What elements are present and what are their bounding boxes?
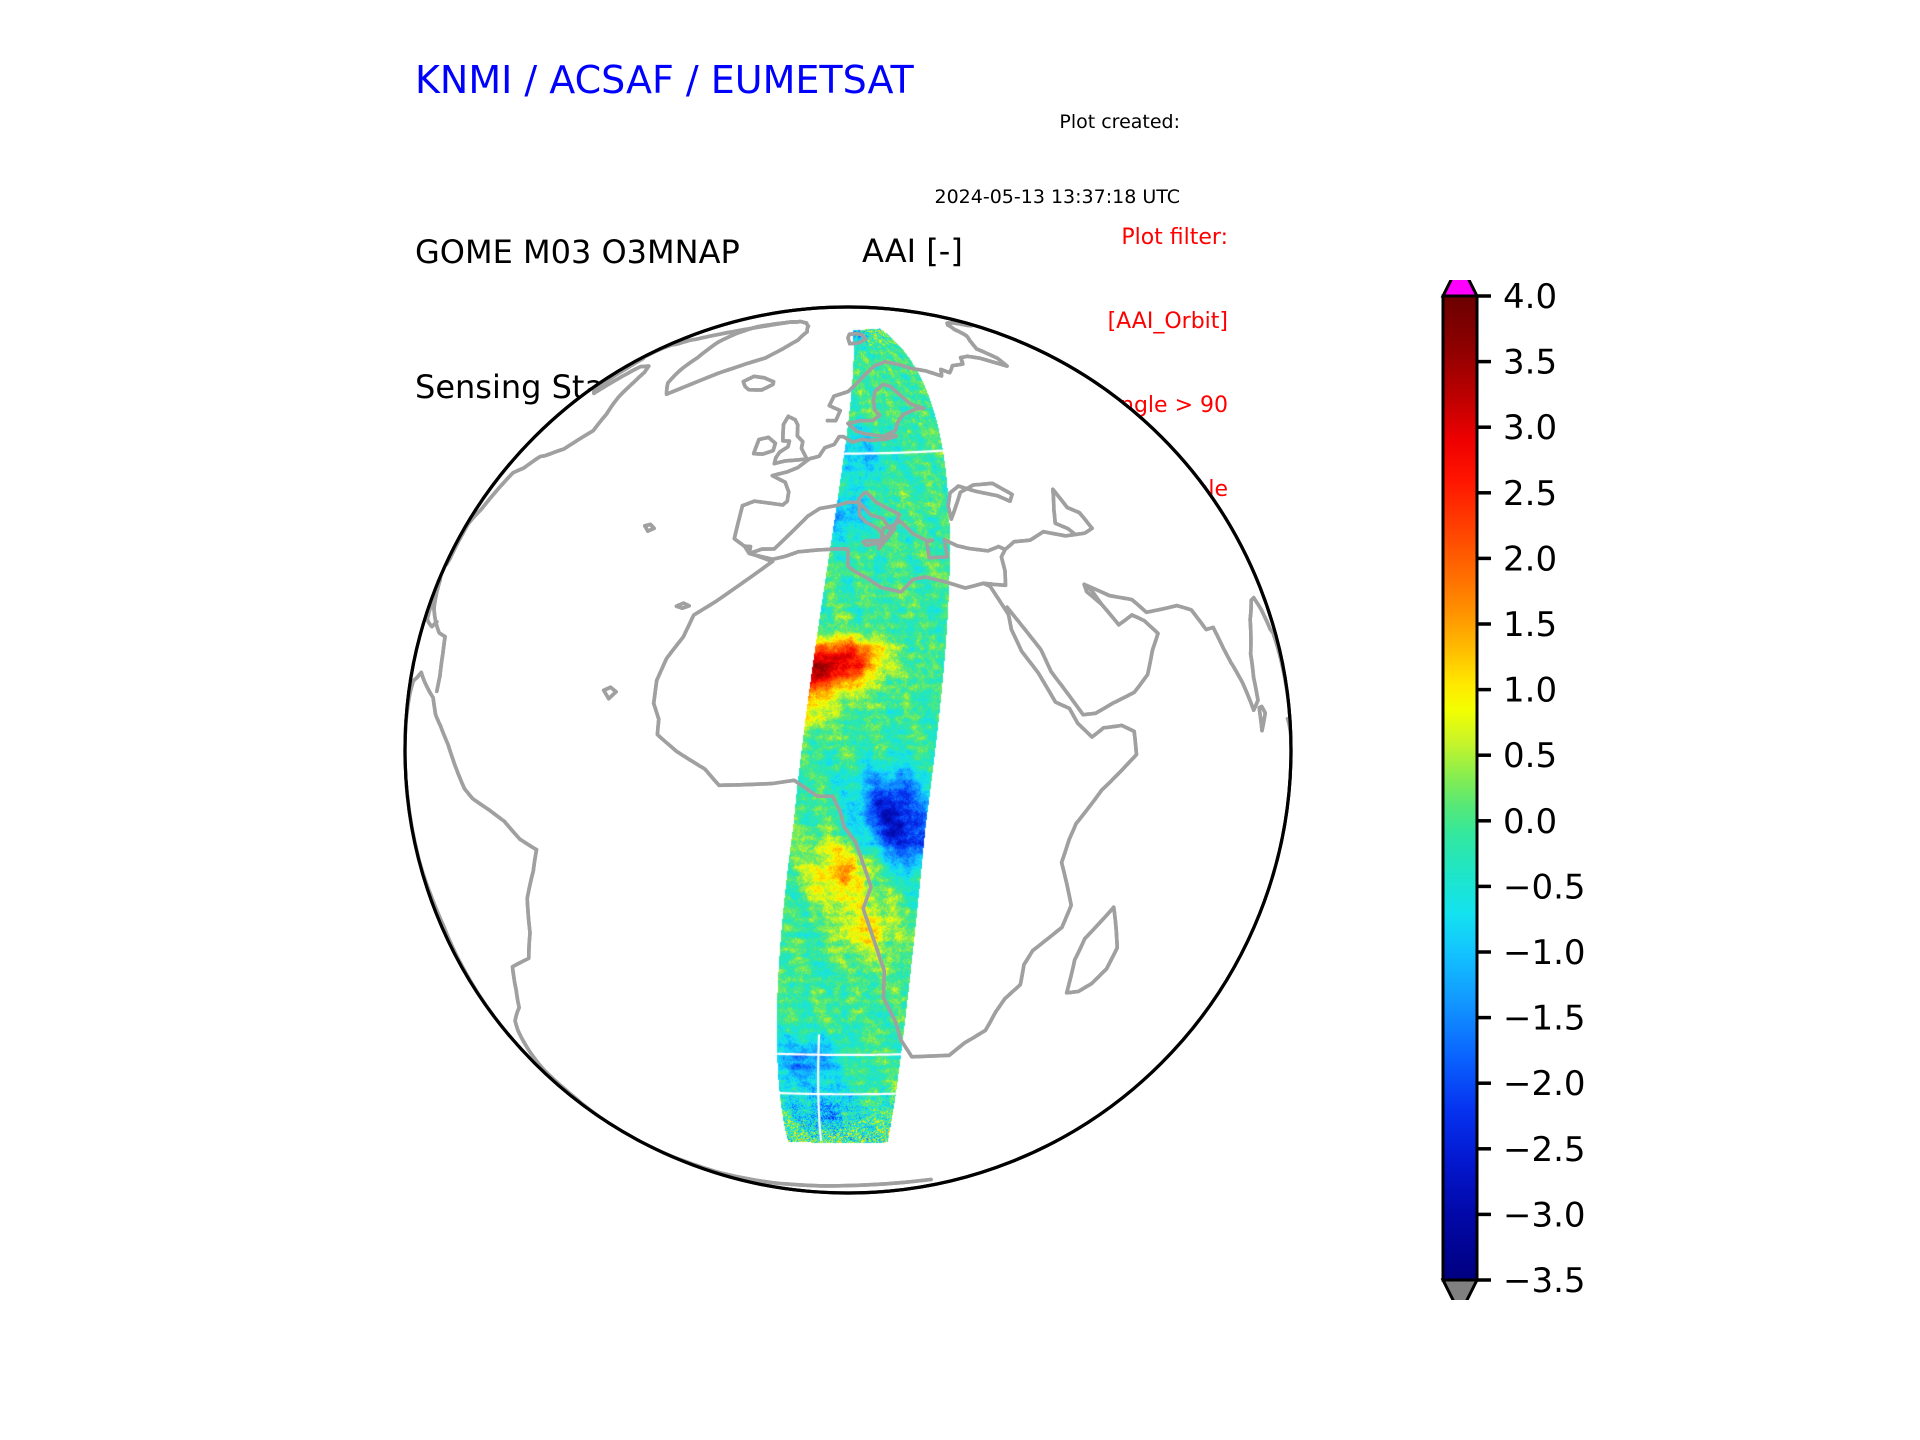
colorbar-tick-label: −0.5 — [1503, 867, 1586, 907]
quantity-title: AAI [-] — [862, 232, 963, 270]
colorbar-tick-label: −3.0 — [1503, 1195, 1586, 1235]
colorbar-tick-label: −1.0 — [1503, 933, 1586, 973]
instrument-line: GOME M03 O3MNAP — [415, 230, 1074, 275]
colorbar-tick-label: 1.0 — [1503, 671, 1557, 711]
colorbar-tick-label: −2.0 — [1503, 1064, 1586, 1104]
colorbar-svg: 4.03.53.02.52.01.51.00.50.0−0.5−1.0−1.5−… — [1430, 280, 1730, 1300]
colorbar-tick-label: 2.5 — [1503, 474, 1557, 514]
globe-svg — [398, 278, 1298, 1222]
colorbar-tick-label: 3.5 — [1503, 343, 1557, 383]
colorbar-tick-label: 3.0 — [1503, 408, 1557, 448]
colorbar-tick-label: 1.5 — [1503, 605, 1557, 645]
colorbar-tick-label: 4.0 — [1503, 280, 1557, 317]
organisation-title: KNMI / ACSAF / EUMETSAT — [415, 58, 914, 102]
colorbar-tick-label: −1.5 — [1503, 999, 1586, 1039]
aai-swath-raster — [398, 278, 1298, 1222]
filter-line-1: Plot filter: — [1050, 224, 1228, 252]
plot-canvas: KNMI / ACSAF / EUMETSAT Plot created: 20… — [0, 0, 1920, 1440]
globe-map — [398, 278, 1298, 1222]
colorbar: 4.03.53.02.52.01.51.00.50.0−0.5−1.0−1.5−… — [1430, 280, 1730, 1300]
colorbar-tick-label: 2.0 — [1503, 539, 1557, 579]
colorbar-tick-label: −2.5 — [1503, 1130, 1586, 1170]
colorbar-tick-label: −3.5 — [1503, 1261, 1586, 1300]
plot-created-label: Plot created: — [935, 110, 1181, 135]
colorbar-tick-label: 0.5 — [1503, 736, 1557, 776]
colorbar-tick-label: 0.0 — [1503, 802, 1557, 842]
